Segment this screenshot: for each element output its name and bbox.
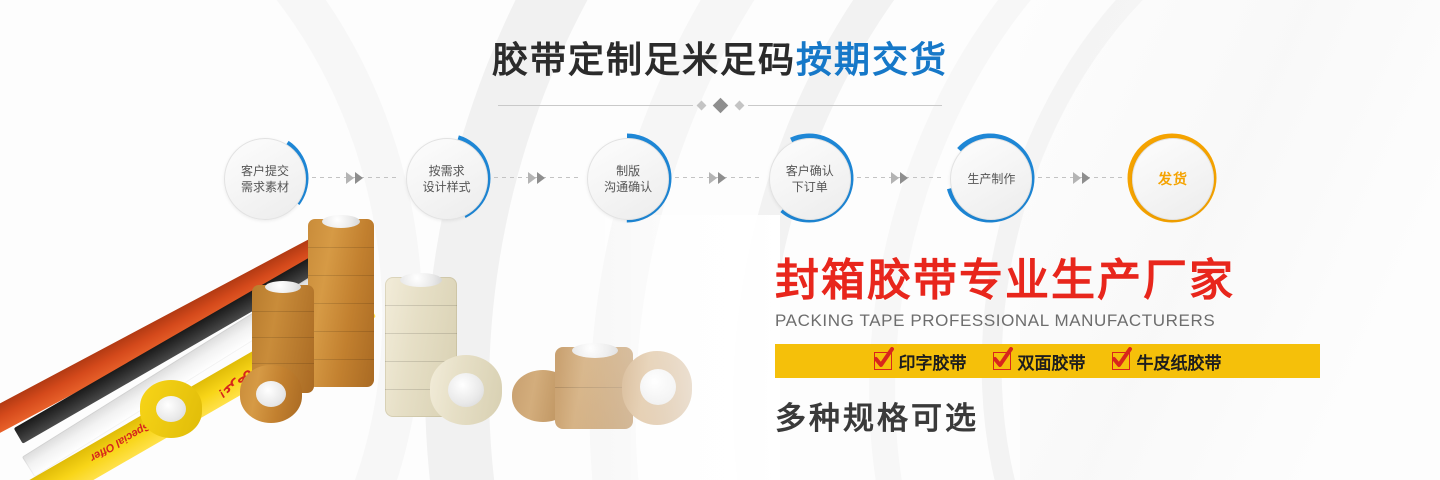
process-arrow-5 [1038, 171, 1124, 185]
process-step-disc: 按需求设计样式 [406, 138, 488, 220]
divider-line-left [498, 105, 693, 106]
process-step-1: 客户提交需求素材 [218, 132, 310, 224]
process-step-disc: 制版沟通确认 [587, 138, 669, 220]
chevron-right-icon [709, 172, 717, 184]
process-step-label-line2: 沟通确认 [604, 179, 652, 195]
divider-diamond-large [712, 97, 728, 113]
process-step-4: 客户确认下订单 [763, 132, 855, 224]
process-arrow-1 [312, 171, 398, 185]
process-step-6: 发货 [1126, 132, 1218, 224]
process-step-disc: 生产制作 [950, 138, 1032, 220]
feature-item-2: 双面胶带 [993, 349, 1086, 374]
divider-line-right [748, 105, 943, 106]
process-flow: 客户提交需求素材按需求设计样式制版沟通确认客户确认下订单生产制作发货 [218, 128, 1218, 228]
product-photo: ▪▪▪▪▪▪▪▪▪▪▪▪▪▪ عرض خاص! Special Offer [0, 215, 780, 480]
process-step-disc: 发货 [1132, 138, 1214, 220]
banner-title-accent: 按期交货 [796, 39, 948, 80]
product-photo-fade [0, 215, 780, 480]
process-step-3: 制版沟通确认 [581, 132, 673, 224]
chevron-right-icon [346, 172, 354, 184]
promo-copy: 封箱胶带专业生产厂家 PACKING TAPE PROFESSIONAL MAN… [775, 255, 1335, 331]
banner-title: 胶带定制足米足码按期交货 [0, 38, 1440, 82]
process-step-label-line1: 发货 [1158, 171, 1188, 187]
checkbox-checked-icon [874, 352, 892, 370]
process-arrow-4 [857, 171, 943, 185]
check-mark-icon [992, 347, 1014, 371]
feature-item-label: 牛皮纸胶带 [1137, 349, 1222, 374]
chevron-right-icon [1082, 172, 1090, 184]
process-step-2: 按需求设计样式 [400, 132, 492, 224]
divider-diamond-small-right [734, 100, 744, 110]
chevron-right-icon [1073, 172, 1081, 184]
chevron-right-icon [900, 172, 908, 184]
checkbox-checked-icon [993, 352, 1011, 370]
process-step-label-line2: 下订单 [792, 179, 828, 195]
banner-title-main: 胶带定制足米足码 [492, 39, 796, 80]
chevron-right-icon [528, 172, 536, 184]
chevron-right-icon [537, 172, 545, 184]
process-step-disc: 客户确认下订单 [769, 138, 851, 220]
promo-footline: 多种规格可选 [775, 393, 979, 438]
feature-bar: 印字胶带双面胶带牛皮纸胶带 [775, 344, 1320, 378]
process-arrow-2 [494, 171, 580, 185]
process-step-disc: 客户提交需求素材 [224, 138, 306, 220]
process-step-label-line1: 生产制作 [967, 171, 1015, 187]
feature-item-label: 印字胶带 [899, 349, 967, 374]
check-mark-icon [873, 347, 895, 371]
process-step-label-line2: 需求素材 [241, 179, 289, 195]
process-step-label-line1: 制版 [616, 163, 640, 179]
process-step-5: 生产制作 [944, 132, 1036, 224]
title-divider [498, 98, 942, 112]
process-step-label-line1: 客户确认 [786, 163, 834, 179]
chevron-right-icon [355, 172, 363, 184]
process-arrow-3 [675, 171, 761, 185]
process-step-label-line2: 设计样式 [423, 179, 471, 195]
check-mark-icon [1111, 347, 1133, 371]
promo-subline: PACKING TAPE PROFESSIONAL MANUFACTURERS [775, 311, 1335, 331]
chevron-right-icon [718, 172, 726, 184]
process-step-label-line1: 按需求 [429, 163, 465, 179]
divider-diamond-small-left [696, 100, 706, 110]
feature-item-1: 印字胶带 [874, 349, 967, 374]
checkbox-checked-icon [1112, 352, 1130, 370]
process-step-label-line1: 客户提交 [241, 163, 289, 179]
feature-item-3: 牛皮纸胶带 [1112, 349, 1222, 374]
promo-banner: 胶带定制足米足码按期交货 客户提交需求素材按需求设计样式制版沟通确认客户确认下订… [0, 0, 1440, 480]
feature-item-label: 双面胶带 [1018, 349, 1086, 374]
promo-headline: 封箱胶带专业生产厂家 [775, 255, 1335, 307]
chevron-right-icon [891, 172, 899, 184]
